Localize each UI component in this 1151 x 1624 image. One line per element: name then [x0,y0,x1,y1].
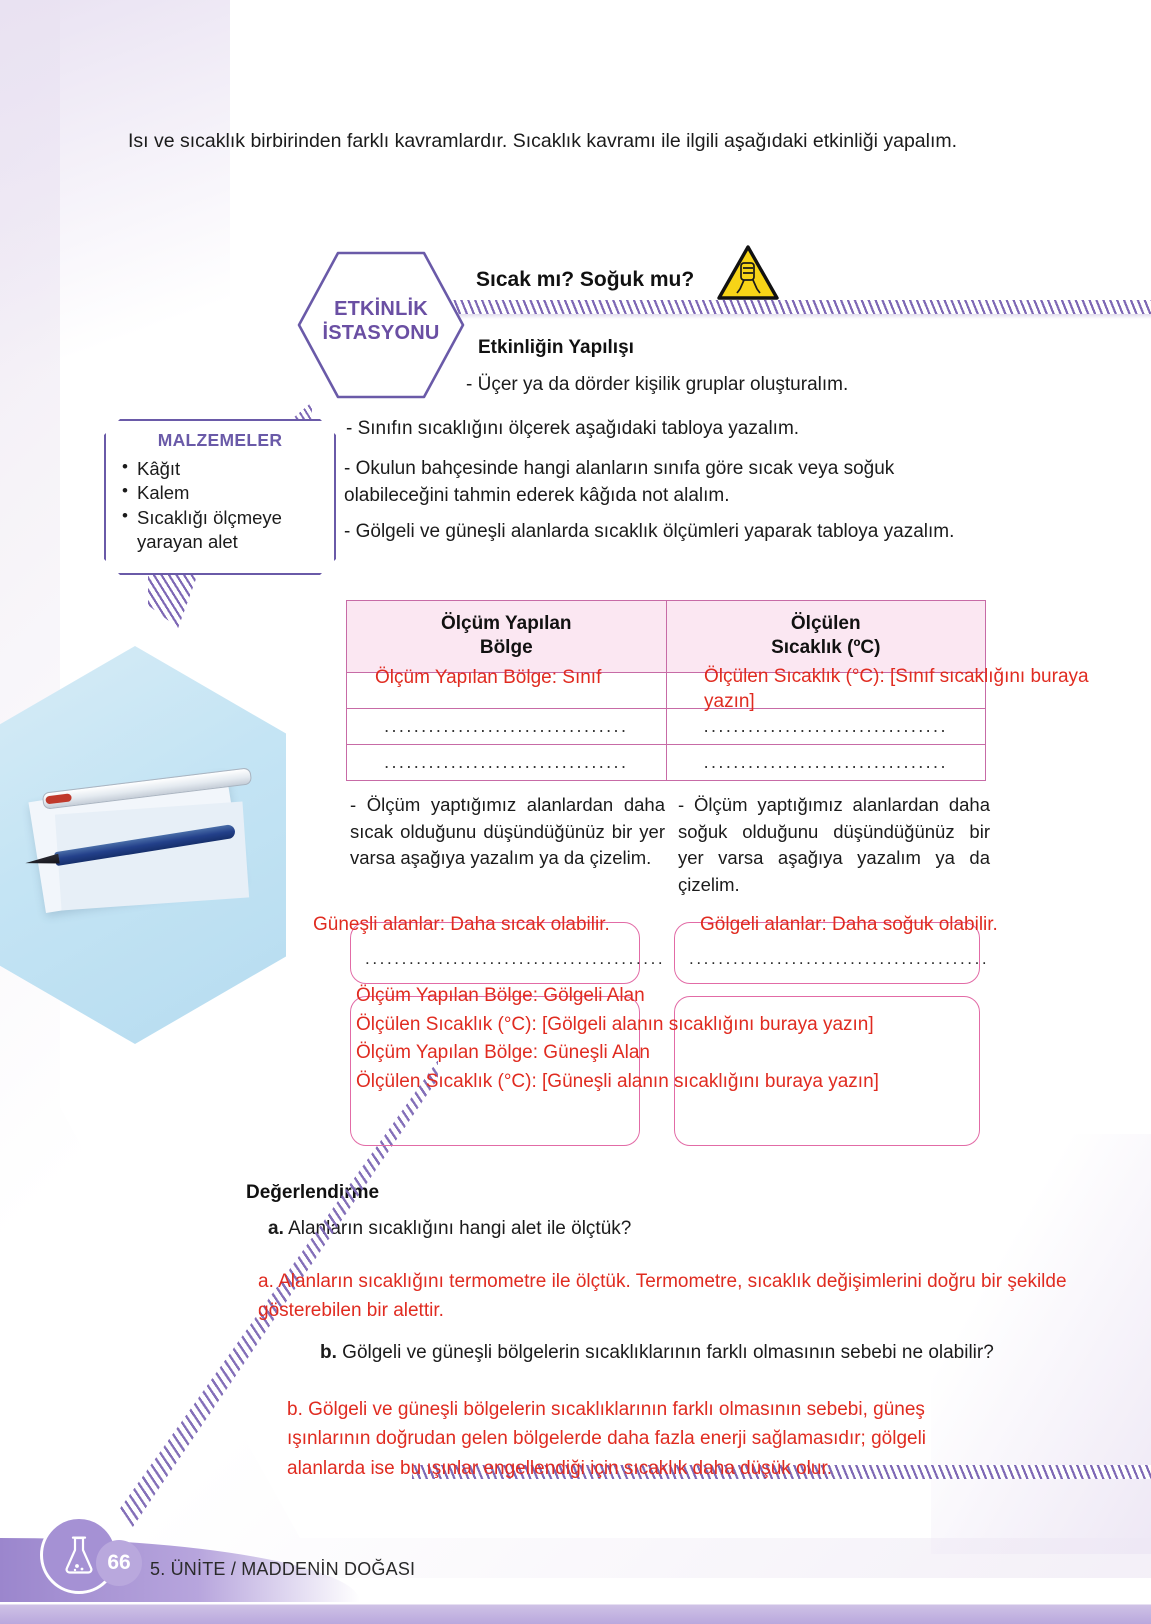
materials-box: MALZEMELER Kâğıt Kalem Sıcaklığı ölçmeye… [104,419,336,575]
materials-item: Kâğıt [120,457,334,481]
activity-step-2: - Sınıfın sıcaklığını ölçerek aşağıdaki … [346,416,986,443]
intro-paragraph: Isı ve sıcaklık birbirinden farklı kavra… [128,127,998,155]
activity-step-1: - Üçer ya da dörder kişilik gruplar oluş… [466,372,986,399]
table-cell-region[interactable]: ................................. [347,708,667,744]
table-header-row: Ölçüm Yapılan Bölge Ölçülen Sıcaklık (ºC… [347,601,986,673]
table-header-temperature: Ölçülen Sıcaklık (ºC) [666,601,986,673]
materials-item: Kalem [120,481,334,505]
table-header-region-line2: Bölge [480,637,533,658]
table-row[interactable]: ................................. ......… [347,744,986,780]
page-footer [0,1578,1151,1624]
question-a-label: a. [268,1218,284,1239]
handwritten-answer-a: a. Alanların sıcaklığını termometre ile … [258,1268,1088,1325]
activity-step-3: - Okulun bahçesinde hangi alanların sını… [344,456,996,510]
title-rule-shadow [455,314,1151,319]
hint-warmer-areas: - Ölçüm yaptığımız alanlardan daha sıcak… [350,792,665,872]
handwritten-table-temperature: Ölçülen Sıcaklık (°C): [Sınıf sıcaklığın… [704,665,1134,714]
badge-label: ETKİNLİK İSTASYONU [296,297,466,346]
table-header-region: Ölçüm Yapılan Bölge [347,601,667,673]
handwritten-answer-b: b. Gölgeli ve güneşli bölgelerin sıcaklı… [287,1395,1003,1483]
materials-title: MALZEMELER [106,430,334,451]
warning-triangle-icon [717,245,779,301]
materials-list: Kâğıt Kalem Sıcaklığı ölçmeye yarayan al… [120,457,334,555]
hint-cooler-areas: - Ölçüm yaptığımız alanlardan daha soğuk… [678,792,990,899]
footer-unit-title: 5. ÜNİTE / MADDENİN DOĞASI [150,1559,415,1580]
materials-item: Sıcaklığı ölçmeye yarayan alet [120,506,334,555]
evaluation-question-b: b. Gölgeli ve güneşli bölgelerin sıcaklı… [320,1340,1010,1367]
answer-box-dots: ........................................… [365,949,625,969]
page-number: 66 [96,1540,142,1586]
handwritten-block-line-4: Ölçülen Sıcaklık (°C): [Güneşli alanın s… [356,1068,879,1097]
activity-step-4: - Gölgeli ve güneşli alanlarda sıcaklık … [344,519,994,546]
handwritten-measurement-block: Ölçüm Yapılan Bölge: Gölgeli Alan Ölçüle… [356,982,879,1096]
badge-label-line2: İSTASYONU [296,321,466,345]
question-b-text: Gölgeli ve güneşli bölgelerin sıcaklıkla… [342,1342,994,1363]
question-b-label: b. [320,1342,337,1363]
corner-gradient-top-left [0,0,230,430]
badge-label-line1: ETKİNLİK [296,297,466,321]
activity-title: Sıcak mı? Soğuk mu? [476,268,694,292]
section-heading: Etkinliğin Yapılışı [478,337,634,359]
activity-station-badge: ETKİNLİK İSTASYONU [296,250,466,400]
table-header-region-line1: Ölçüm Yapılan [441,613,572,634]
table-header-temperature-line2: Sıcaklık (ºC) [771,637,880,658]
table-cell-temperature[interactable]: ................................. [666,744,986,780]
handwritten-table-region: Ölçüm Yapılan Bölge: Sınıf [375,666,601,691]
evaluation-question-a: a. Alanların sıcaklığını hangi alet ile … [268,1218,1028,1240]
handwritten-block-line-2: Ölçülen Sıcaklık (°C): [Gölgeli alanın s… [356,1011,879,1040]
handwritten-sunny-note: Güneşli alanlar: Daha sıcak olabilir. [313,913,610,938]
answer-box-dots: ........................................… [689,949,965,969]
title-hatched-rule [452,300,1151,314]
handwritten-block-line-1: Ölçüm Yapılan Bölge: Gölgeli Alan [356,982,879,1011]
table-header-temperature-line1: Ölçülen [791,613,861,634]
handwritten-block-line-3: Ölçüm Yapılan Bölge: Güneşli Alan [356,1039,879,1068]
handwritten-shady-note: Gölgeli alanlar: Daha soğuk olabilir. [700,913,998,938]
table-cell-region[interactable]: ................................. [347,744,667,780]
